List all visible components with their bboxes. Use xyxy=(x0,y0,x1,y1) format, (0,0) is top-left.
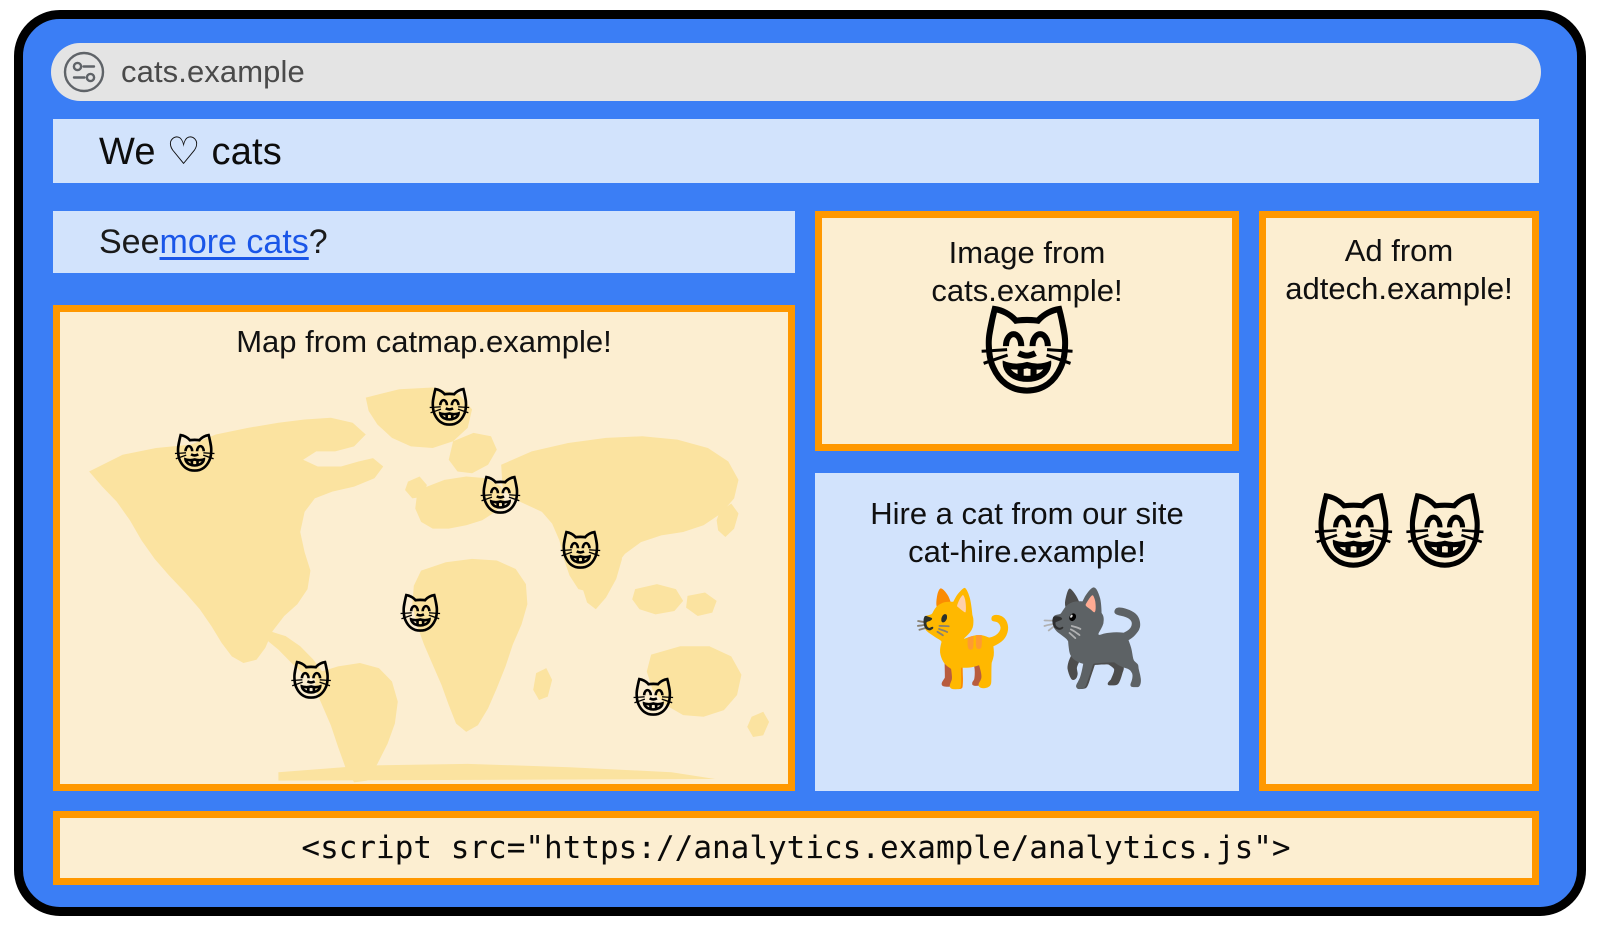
grinning-cat-face-icon: 😸 xyxy=(1404,496,1485,574)
grey-cat-icon: 🐈‍⬛ xyxy=(1034,593,1149,685)
orange-cat-icon: 🐈 xyxy=(905,593,1020,685)
world-map-svg xyxy=(60,364,788,784)
page-content: We ♡ cats See more cats? Map from catmap… xyxy=(53,119,1539,885)
script-panel: <script src="https://analytics.example/a… xyxy=(53,811,1539,885)
script-tag-code: <script src="https://analytics.example/a… xyxy=(301,830,1290,866)
grinning-cat-face-icon: 😸 xyxy=(1313,496,1394,574)
ad-panel-title-line2: adtech.example! xyxy=(1285,270,1512,308)
map-marker-northern-europe[interactable]: 😸 xyxy=(429,390,471,430)
browser-window: cats.example We ♡ cats See more cats? Ma… xyxy=(14,10,1586,916)
map-marker-australia[interactable]: 😸 xyxy=(632,680,674,720)
map-marker-west-africa[interactable]: 😸 xyxy=(400,596,442,636)
more-cats-banner: See more cats? xyxy=(53,211,795,273)
image-panel-title-line1: Image from xyxy=(931,234,1122,272)
hire-panel-title: Hire a cat from our site cat-hire.exampl… xyxy=(870,495,1184,571)
ad-panel-cats: 😸 😸 xyxy=(1266,496,1532,574)
ad-panel-title: Ad from adtech.example! xyxy=(1285,232,1512,308)
world-map[interactable]: 😸 😸 😸 😸 😸 😸 😸 xyxy=(60,364,788,784)
map-marker-central-europe[interactable]: 😸 xyxy=(480,478,522,518)
hire-panel: Hire a cat from our site cat-hire.exampl… xyxy=(815,473,1239,791)
more-cats-suffix: ? xyxy=(309,223,328,262)
map-panel: Map from catmap.example! xyxy=(53,305,795,791)
map-marker-north-america[interactable]: 😸 xyxy=(174,436,216,476)
content-columns: See more cats? Map from catmap.example! xyxy=(53,211,1539,791)
map-marker-south-america[interactable]: 😸 xyxy=(290,663,332,703)
hire-panel-title-line1: Hire a cat from our site xyxy=(870,495,1184,533)
middle-column: Image from cats.example! 😸 Hire a cat fr… xyxy=(815,211,1239,791)
map-marker-south-asia[interactable]: 😸 xyxy=(560,533,602,573)
ad-panel[interactable]: Ad from adtech.example! 😸 😸 xyxy=(1259,211,1539,791)
map-panel-title: Map from catmap.example! xyxy=(60,324,788,360)
left-column: See more cats? Map from catmap.example! xyxy=(53,211,795,791)
ad-panel-title-line1: Ad from xyxy=(1285,232,1512,270)
more-cats-link[interactable]: more cats xyxy=(160,223,309,262)
image-panel-title-line2: cats.example! xyxy=(931,272,1122,310)
page-title: We ♡ cats xyxy=(99,129,282,174)
address-bar-url: cats.example xyxy=(121,54,305,90)
hire-panel-title-line2: cat-hire.example! xyxy=(870,533,1184,571)
site-settings-tune-icon[interactable] xyxy=(63,51,105,93)
address-bar[interactable]: cats.example xyxy=(51,43,1541,101)
image-panel: Image from cats.example! 😸 xyxy=(815,211,1239,451)
more-cats-prefix: See xyxy=(99,223,160,262)
grinning-cat-face-icon: 😸 xyxy=(979,310,1075,402)
hire-panel-cats: 🐈 🐈‍⬛ xyxy=(905,593,1148,685)
image-panel-title: Image from cats.example! xyxy=(931,234,1122,310)
headline-banner: We ♡ cats xyxy=(53,119,1539,183)
